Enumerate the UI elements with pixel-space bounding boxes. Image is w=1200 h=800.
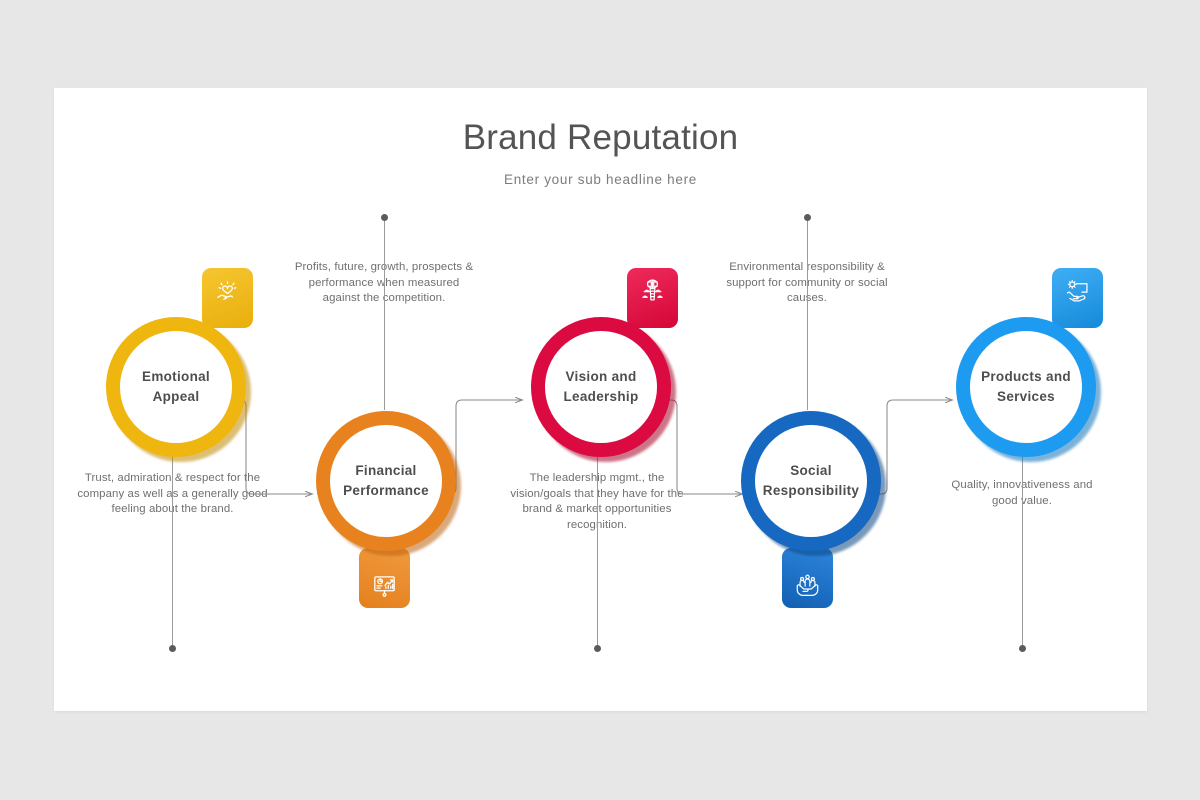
node-label-emotional-appeal: Emotional Appeal [142,367,210,406]
node-ring-social-responsibility[interactable]: Social Responsibility [741,411,881,551]
node-label-financial-performance: Financial Performance [343,461,429,500]
label-line-1: Products and [981,369,1071,384]
lighthouse-icon [639,277,666,304]
node-ring-vision-and-leadership[interactable]: Vision and Leadership [531,317,671,457]
leader-dot-top-2 [381,214,388,221]
node-label-products-and-services: Products and Services [981,367,1071,406]
hand-heart-icon [214,277,241,304]
leader-line-top-4 [807,220,808,410]
leader-dot-bottom-1 [169,645,176,652]
node-label-vision-and-leadership: Vision and Leadership [563,367,638,406]
leader-line-bottom-3 [597,456,598,648]
leader-line-bottom-5 [1022,456,1023,648]
leader-line-top-2 [384,220,385,410]
label-line-1: Financial [355,463,416,478]
gear-hand-icon [1064,277,1091,304]
node-ring-financial-performance[interactable]: Financial Performance [316,411,456,551]
icon-badge-vision-and-leadership[interactable] [627,268,678,328]
label-line-1: Vision and [565,369,636,384]
label-line-1: Social [790,463,832,478]
leader-dot-top-4 [804,214,811,221]
slide-canvas: Brand Reputation Enter your sub headline… [0,0,1200,800]
presentation-chart-icon [371,572,398,599]
icon-badge-products-and-services[interactable] [1052,268,1103,328]
leader-dot-bottom-3 [594,645,601,652]
label-line-1: Emotional [142,369,210,384]
slide-card: Brand Reputation Enter your sub headline… [54,88,1147,711]
label-line-2: Performance [343,483,429,498]
icon-badge-financial-performance[interactable] [359,548,410,608]
leader-dot-bottom-5 [1019,645,1026,652]
leader-line-bottom-1 [172,456,173,648]
node-ring-products-and-services[interactable]: Products and Services [956,317,1096,457]
label-line-2: Responsibility [763,483,859,498]
icon-badge-emotional-appeal[interactable] [202,268,253,328]
label-line-2: Leadership [563,389,638,404]
label-line-2: Services [997,389,1055,404]
node-ring-emotional-appeal[interactable]: Emotional Appeal [106,317,246,457]
label-line-2: Appeal [153,389,200,404]
icon-badge-social-responsibility[interactable] [782,548,833,608]
hands-community-icon [794,572,821,599]
node-label-social-responsibility: Social Responsibility [763,461,859,500]
